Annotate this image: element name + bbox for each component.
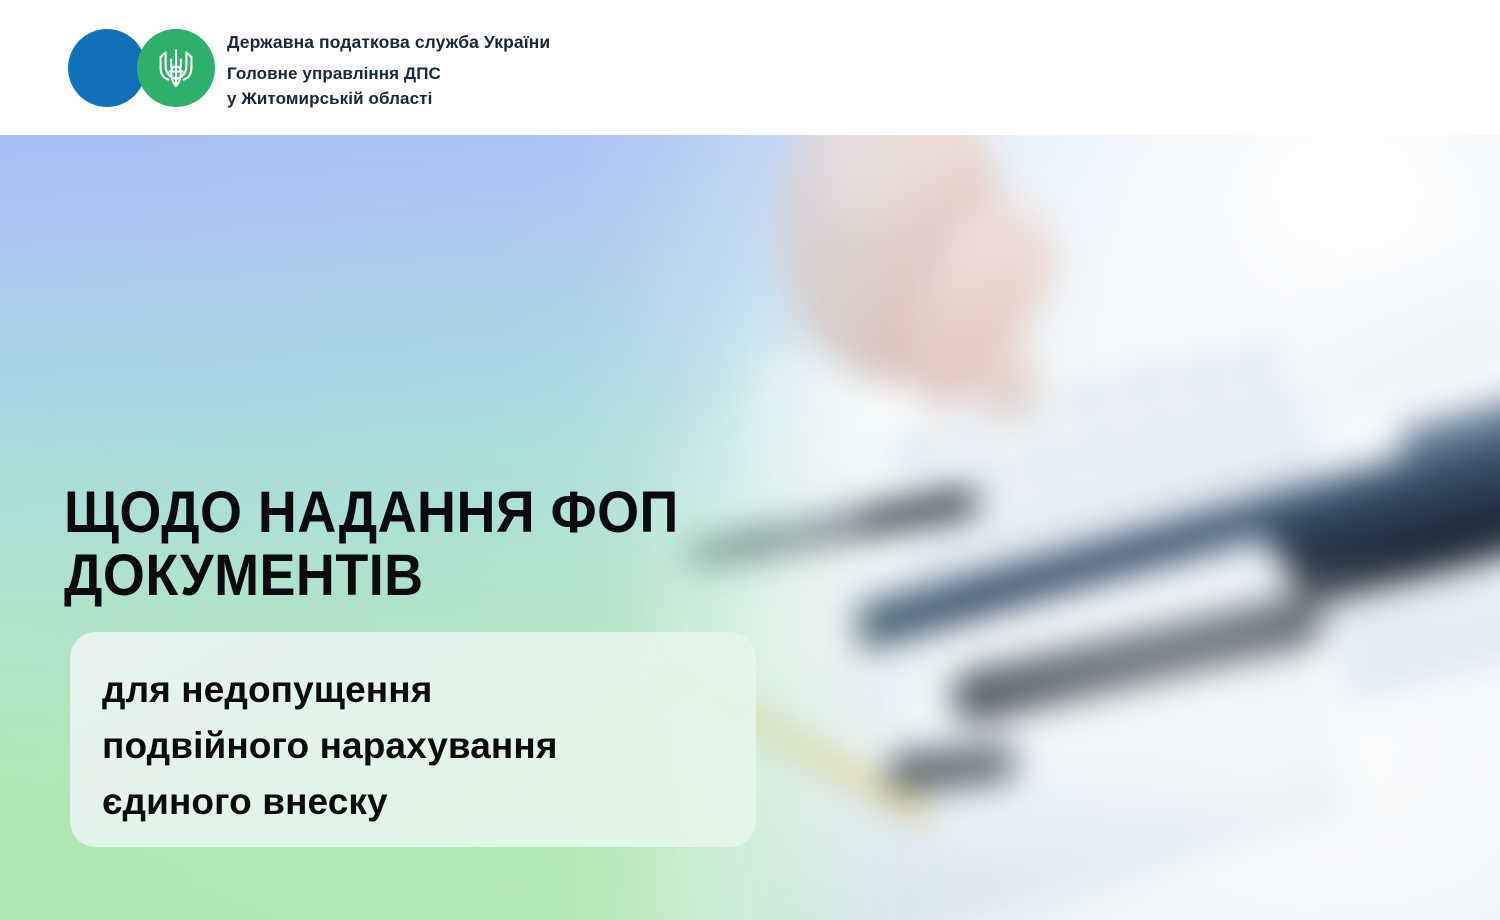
hero-banner: ЩОДО НАДАННЯ ФОП ДОКУМЕНТІВ для недопуще… xyxy=(0,135,1500,920)
logo-blue-circle-icon xyxy=(68,29,146,107)
dps-logo[interactable] xyxy=(68,29,208,107)
subtitle-line-3: єдиного внеску xyxy=(102,774,732,830)
org-name-line-3: у Житомирській області xyxy=(227,86,550,111)
site-header: Державна податкова служба України Головн… xyxy=(0,0,1500,135)
subtitle-line-1: для недопущення xyxy=(102,662,732,718)
organisation-name: Державна податкова служба України Головн… xyxy=(227,30,550,111)
page-title: ЩОДО НАДАННЯ ФОП ДОКУМЕНТІВ xyxy=(64,481,715,607)
photo-light-wash xyxy=(900,565,1500,920)
banner-page: Державна податкова служба України Головн… xyxy=(0,0,1500,920)
org-name-line-1: Державна податкова служба України xyxy=(227,30,550,54)
subtitle-line-2: подвійного нарахування xyxy=(102,718,732,774)
subtitle-text: для недопущення подвійного нарахування є… xyxy=(102,662,732,830)
ukraine-trident-icon xyxy=(156,46,196,90)
subtitle-card: для недопущення подвійного нарахування є… xyxy=(70,632,756,847)
org-name-line-2: Головне управління ДПС xyxy=(227,61,550,86)
